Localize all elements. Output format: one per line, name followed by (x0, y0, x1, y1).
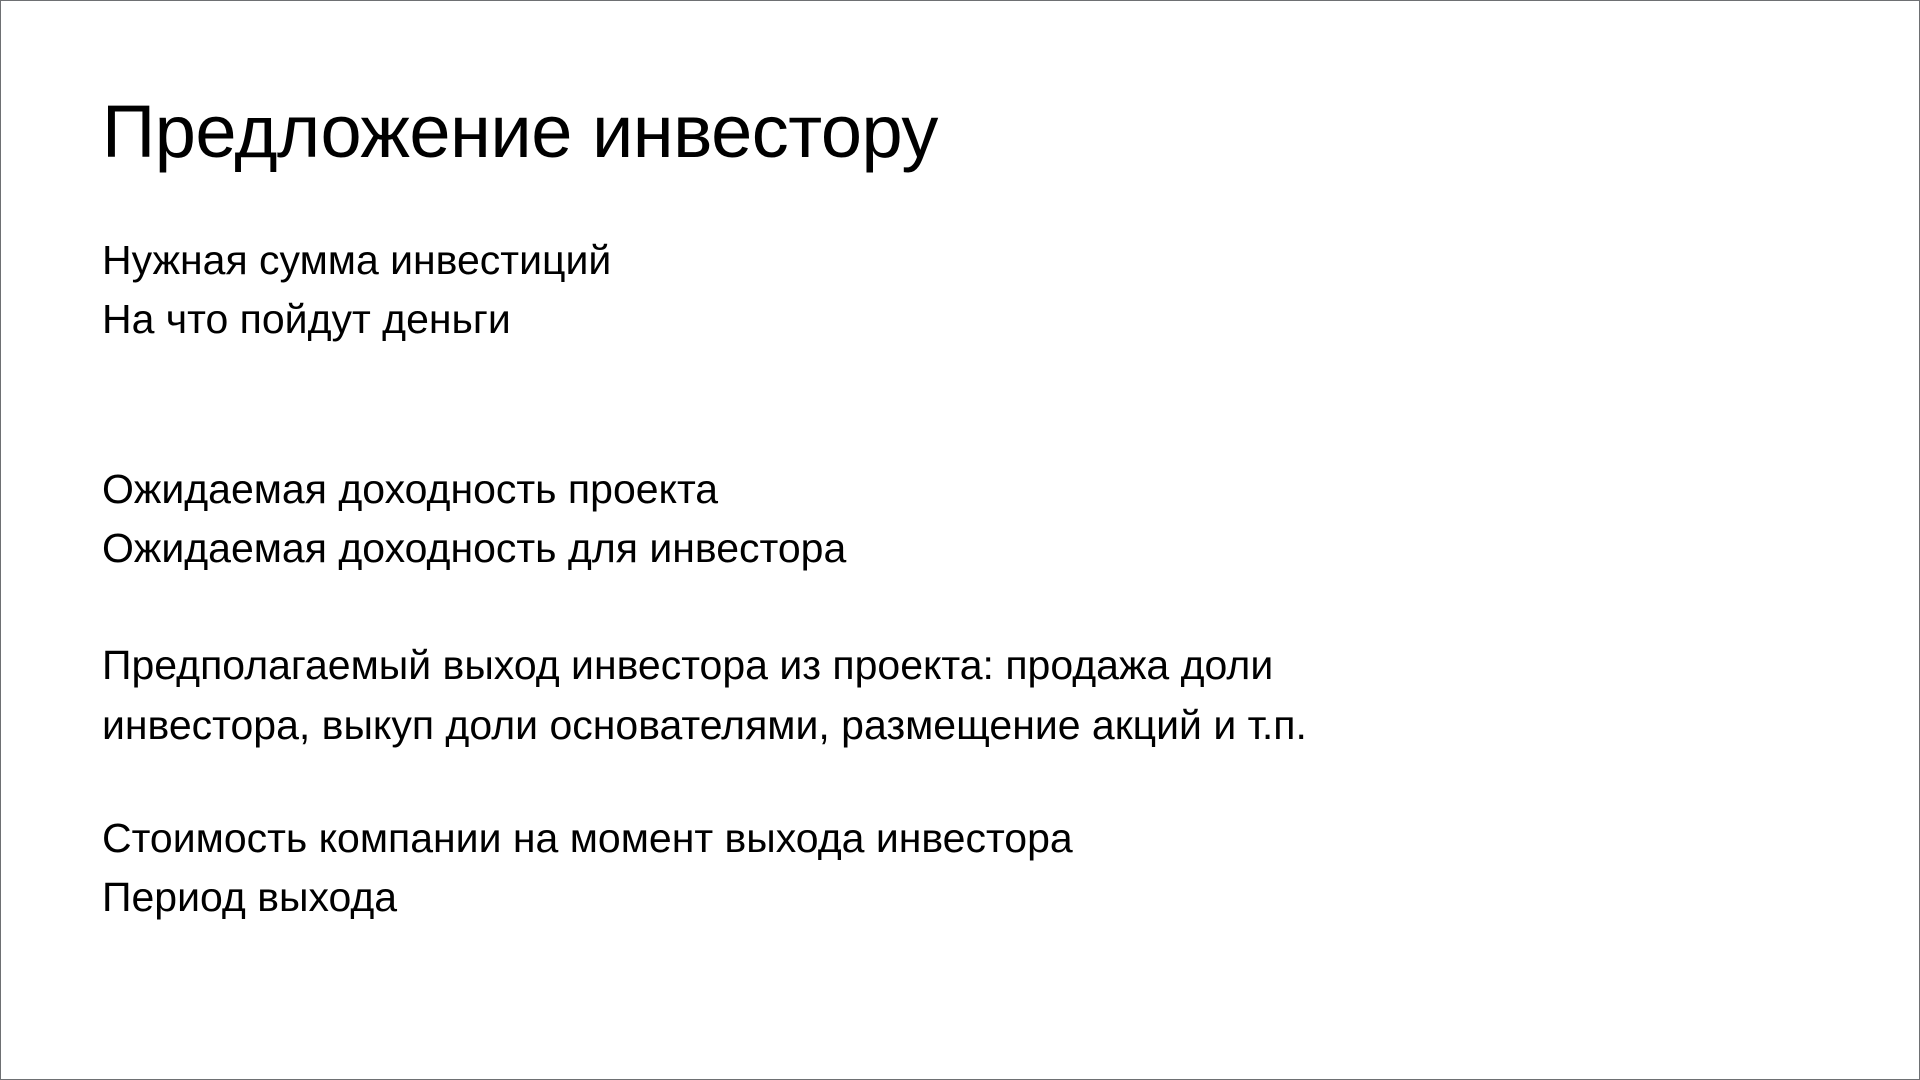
body-line: Нужная сумма инвестиций (102, 231, 1662, 290)
text-block-expected-return: Ожидаемая доходность проекта Ожидаемая д… (102, 460, 1662, 578)
text-block-investment-amount: Нужная сумма инвестиций На что пойдут де… (102, 231, 1662, 349)
body-line: Период выхода (102, 868, 1662, 927)
presentation-slide: Предложение инвестору Нужная сумма инвес… (0, 0, 1920, 1080)
body-line: Предполагаемый выход инвестора из проект… (102, 635, 1642, 695)
body-line: На что пойдут деньги (102, 290, 1662, 349)
text-block-investor-exit: Предполагаемый выход инвестора из проект… (102, 635, 1642, 755)
page-title: Предложение инвестору (102, 89, 938, 175)
body-line: Ожидаемая доходность для инвестора (102, 519, 1662, 578)
body-line: инвестора, выкуп доли основателями, разм… (102, 695, 1642, 755)
slide-content: Предложение инвестору Нужная сумма инвес… (102, 1, 1822, 1080)
text-block-company-valuation: Стоимость компании на момент выхода инве… (102, 809, 1662, 927)
body-line: Ожидаемая доходность проекта (102, 460, 1662, 519)
body-line: Стоимость компании на момент выхода инве… (102, 809, 1662, 868)
